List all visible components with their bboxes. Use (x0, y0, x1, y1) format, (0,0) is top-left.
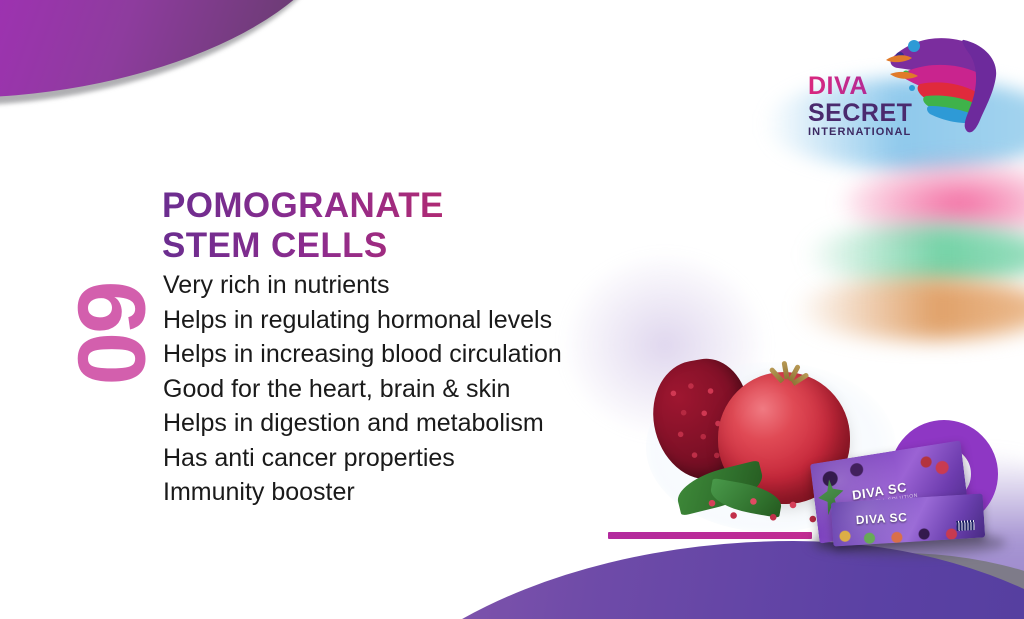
product-box-front: DIVA SC (831, 493, 985, 546)
barcode-icon (956, 520, 975, 531)
list-item: Has anti cancer properties (163, 441, 703, 476)
list-item: Very rich in nutrients (163, 268, 703, 303)
brand-logo-text: DIVA SECRET INTERNATIONAL (808, 74, 912, 139)
page-title-line-2: STEM CELLS (162, 226, 722, 266)
slide-canvas: 09 POMOGRANATE STEM CELLS Very rich in n… (0, 0, 1024, 619)
list-item: Immunity booster (163, 475, 703, 510)
product-packshot: DIVA SC STEM CELL SOLUTION DIVA SC (808, 452, 1008, 560)
background-orange-band (794, 278, 1024, 340)
pomegranate-crown (772, 360, 804, 386)
brand-name-primary: DIVA (808, 74, 912, 100)
page-title-line-1: POMOGRANATE (162, 186, 722, 226)
slide-number-text: 09 (64, 283, 160, 386)
benefit-list: Very rich in nutrients Helps in regulati… (163, 268, 703, 510)
list-item: Helps in increasing blood circulation (163, 337, 703, 372)
page-title: POMOGRANATE STEM CELLS (162, 186, 722, 266)
brand-name-secondary: SECRET (808, 100, 912, 126)
slide-number: 09 (42, 264, 182, 404)
brand-logo: DIVA SECRET INTERNATIONAL (802, 26, 1002, 144)
list-item: Good for the heart, brain & skin (163, 372, 703, 407)
list-item: Helps in digestion and metabolism (163, 406, 703, 441)
background-green-band (804, 225, 1024, 285)
list-item: Helps in regulating hormonal levels (163, 303, 703, 338)
brand-name-tertiary: INTERNATIONAL (808, 126, 912, 139)
